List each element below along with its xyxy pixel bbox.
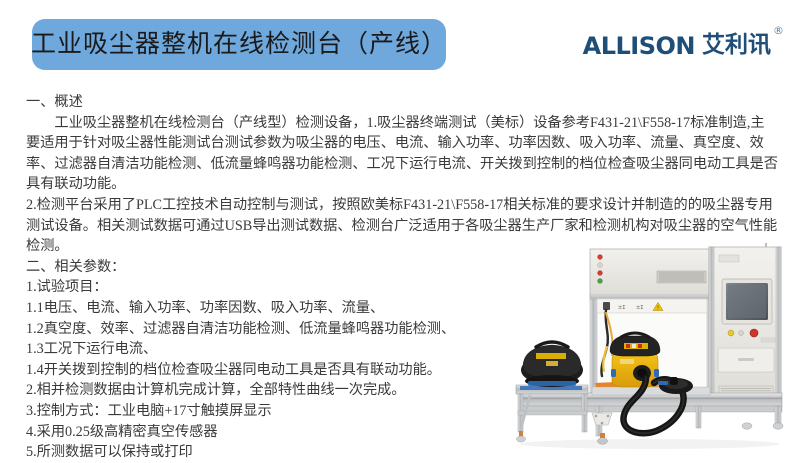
equipment-photo: ±Σ ±Σ ! — [500, 243, 800, 450]
floor-shadow — [520, 439, 780, 449]
nameplate — [719, 255, 739, 262]
control-cabinet-with-touchscreen — [709, 243, 781, 410]
slide-root: 工业吸尘器整机在线检测台（产线） ALLISON 艾利讯 ® 一、概述 工业吸尘… — [0, 0, 800, 450]
selector-switch[interactable] — [739, 331, 744, 336]
blue-test-plate — [528, 381, 576, 386]
logo-english-text: ALLISON — [583, 34, 695, 58]
socket-outlet[interactable] — [603, 302, 610, 310]
yellow-vacuum-cleaner — [610, 333, 660, 387]
vacuum-label — [536, 353, 566, 359]
reset-button[interactable] — [728, 330, 734, 336]
overview-paragraph: 工业吸尘器整机在线检测台（产线型）检测设备，1.吸尘器终端测试（美标）设备参考F… — [26, 113, 778, 195]
emergency-stop-button[interactable] — [750, 329, 758, 337]
section-1-heading: 一、概述 — [26, 92, 778, 113]
company-logo: ALLISON 艾利讯 ® — [583, 34, 784, 58]
registered-trademark-icon: ® — [773, 25, 784, 36]
title-banner: 工业吸尘器整机在线检测台（产线） — [32, 19, 446, 70]
page-title: 工业吸尘器整机在线检测台（产线） — [31, 32, 447, 57]
svg-text:±Σ: ±Σ — [636, 305, 643, 311]
slide-header: 工业吸尘器整机在线检测台（产线） ALLISON 艾利讯 ® — [0, 0, 800, 88]
logo-chinese-text: 艾利讯 — [702, 34, 771, 57]
drawer-handle[interactable] — [738, 358, 754, 361]
svg-text:±Σ: ±Σ — [618, 305, 625, 311]
svg-text:!: ! — [657, 306, 659, 312]
